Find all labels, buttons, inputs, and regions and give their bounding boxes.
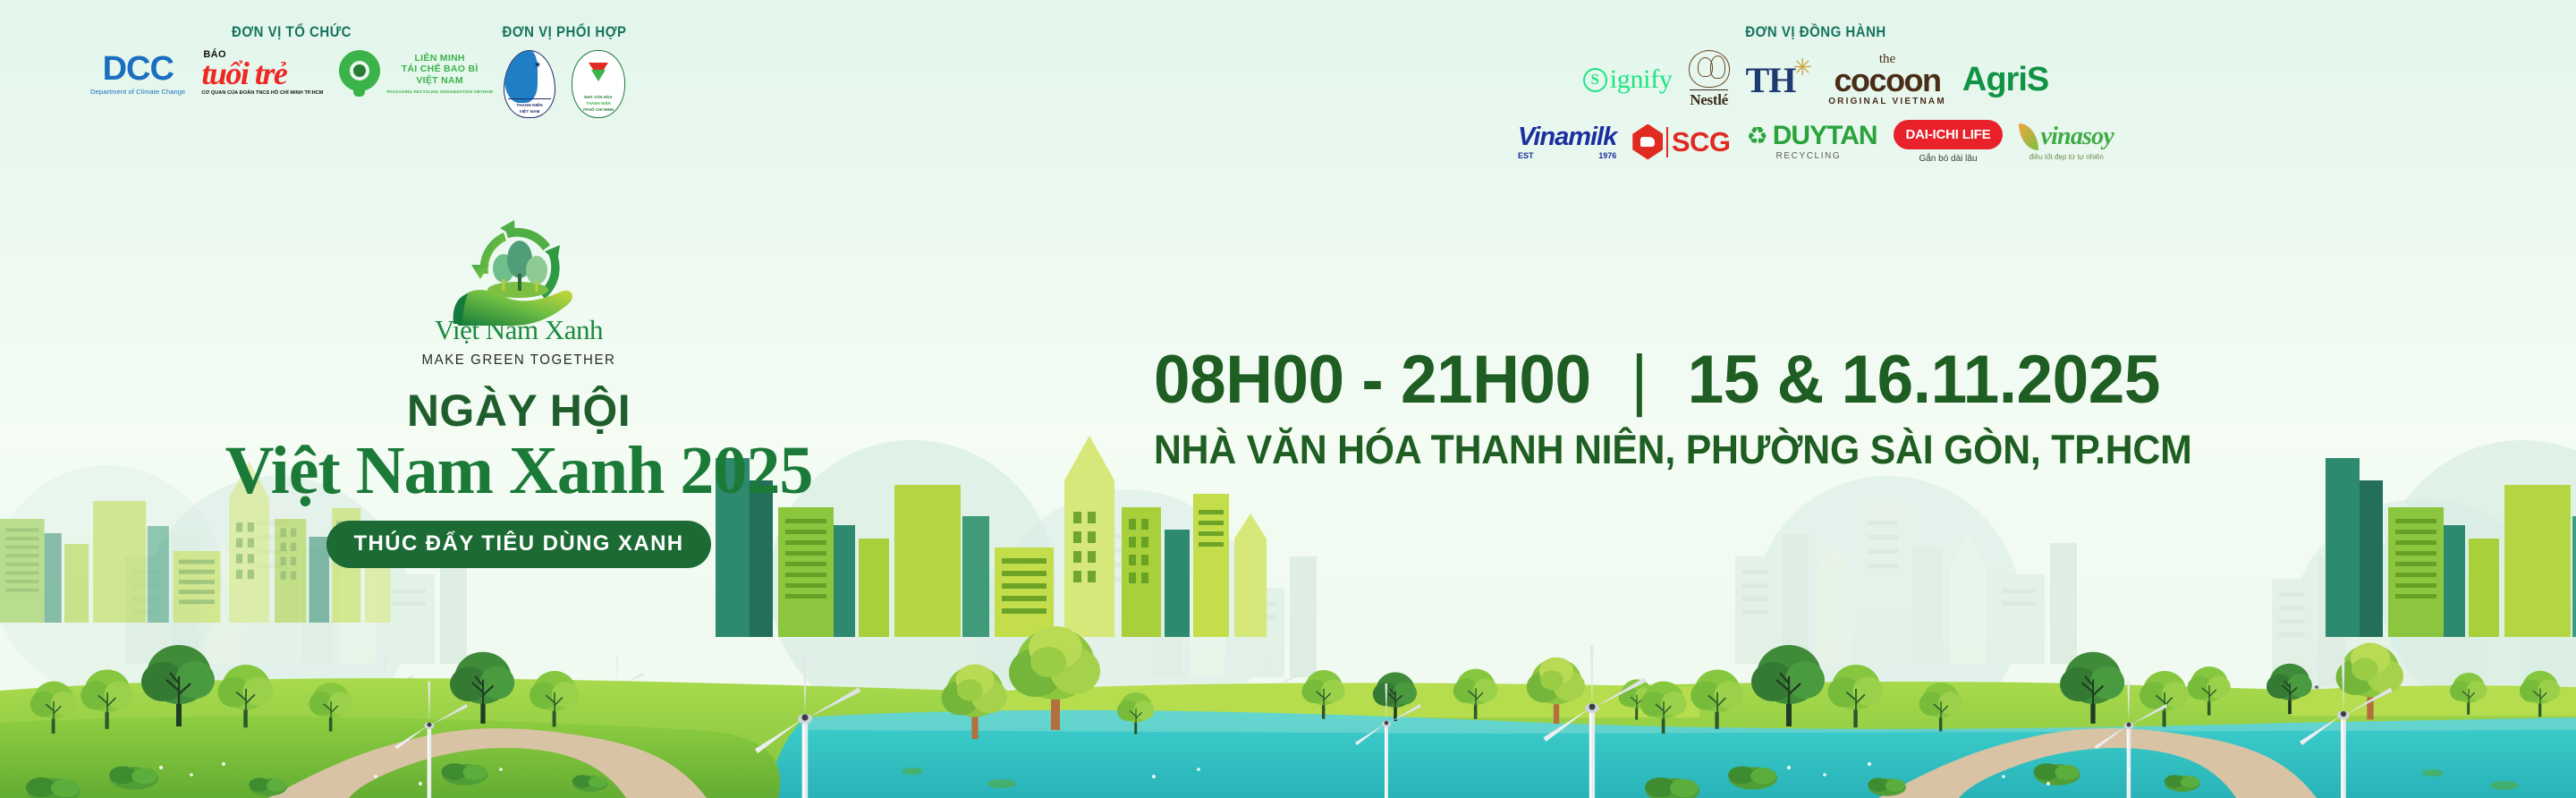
scg-wordmark: SCG (1672, 126, 1731, 158)
tuoi-tre-wordmark: tuổi trẻ (201, 57, 286, 89)
brand-tagline: MAKE GREEN TOGETHER (189, 352, 848, 369)
tuoi-tre-subtitle: CƠ QUAN CỦA ĐOÀN TNCS HỒ CHÍ MINH TP.HCM (201, 91, 323, 97)
sponsor-group-partner: ĐƠN VỊ ĐỒNG HÀNH S ignify Nestlé TH ✳ th… (1368, 23, 2263, 164)
vinamilk-year: 1976 (1598, 152, 1616, 160)
scg-elephant-icon (1632, 124, 1663, 160)
logo-thanh-nien-viet-nam[interactable]: ★ THANH NIÊN VIỆT NAM (504, 50, 555, 118)
logo-vinasoy[interactable]: vinasoy điều tốt đẹp từ tự nhiên (2019, 123, 2114, 161)
event-kicker: NGÀY HỘI (179, 388, 859, 433)
nestle-birds-nest-icon (1689, 50, 1730, 88)
duytan-subtitle: RECYCLING (1776, 152, 1842, 161)
group-label-coordinator: ĐƠN VỊ PHỐI HỢP (435, 23, 694, 41)
event-title: Việt Nam Xanh 2025 (179, 437, 859, 506)
dcc-wordmark: DCC (103, 52, 174, 86)
nvh-line-3: TP.HỒ CHÍ MINH (572, 107, 624, 112)
logo-agris[interactable]: AgriS (1962, 61, 2048, 99)
logo-signify[interactable]: S ignify (1583, 64, 1673, 95)
recycle-icon: ♻ (1747, 124, 1768, 149)
group-label-partner: ĐƠN VỊ ĐỒNG HÀNH (1422, 23, 2209, 41)
scg-divider (1666, 127, 1668, 157)
tnvn-blue-shape (504, 51, 538, 103)
logo-cocoon[interactable]: the cocoon ORIGINAL VIETNAM (1828, 53, 1946, 106)
logo-th[interactable]: TH ✳ (1746, 59, 1813, 101)
signify-s-icon: S (1583, 68, 1607, 92)
sponsor-group-coordinator: ĐƠN VỊ PHỐI HỢP ★ THANH NIÊN VIỆT NAM (417, 23, 712, 118)
th-star-icon: ✳ (1792, 54, 1812, 81)
logo-vinamilk[interactable]: Vinamilk EST 1976 (1518, 124, 1616, 160)
nvh-line-2: THANH NIÊN (572, 101, 624, 106)
star-icon: ★ (534, 61, 541, 69)
vinasoy-leaf-icon (2019, 123, 2038, 150)
coordinator-logo-row: ★ THANH NIÊN VIỆT NAM NHÀ VĂN HÓA THANH … (417, 50, 712, 118)
logo-tuoi-tre[interactable]: BÁO tuổi trẻ CƠ QUAN CỦA ĐOÀN TNCS HỒ CH… (201, 50, 323, 97)
nestle-wordmark: Nestlé (1690, 89, 1728, 109)
leaf-icon (591, 70, 606, 81)
event-dates: 15 & 16.11.2025 (1688, 342, 2160, 418)
event-info-block: 08H00 - 21H00 | 15 & 16.11.2025 NHÀ VĂN … (1154, 344, 2531, 473)
logo-scg[interactable]: SCG (1632, 124, 1730, 160)
dai-ichi-slogan: Gắn bó dài lâu (1919, 154, 1977, 164)
partner-logo-row-1: S ignify Nestlé TH ✳ the cocoon ORIGINAL… (1368, 50, 2263, 109)
logo-nha-van-hoa-thanh-nien[interactable]: NHÀ VĂN HÓA THANH NIÊN TP.HỒ CHÍ MINH (572, 50, 625, 118)
cocoon-wordmark: cocoon (1835, 64, 1941, 97)
partner-logo-row-2: Vinamilk EST 1976 SCG ♻ DUYTAN (1368, 120, 2263, 164)
logo-dai-ichi-life[interactable]: DAI-ICHI LIFE Gắn bó dài lâu (1894, 120, 2004, 164)
event-theme-badge: THÚC ĐẨY TIÊU DÙNG XANH (326, 521, 710, 568)
event-banner: ĐƠN VỊ TỔ CHỨC DCC Department of Climate… (0, 0, 2576, 798)
event-headline-block: Việt Nam Xanh MAKE GREEN TOGETHER NGÀY H… (179, 215, 859, 568)
signify-wordmark: ignify (1610, 64, 1673, 95)
pro-vietnam-recycle-icon (339, 50, 380, 97)
vinasoy-wordmark: vinasoy (2040, 123, 2114, 151)
datetime-separator: | (1631, 344, 1647, 416)
dcc-subtitle: Department of Climate Change (90, 89, 185, 96)
event-time-range: 08H00 - 21H00 (1154, 342, 1591, 418)
cocoon-subtitle: ORIGINAL VIETNAM (1828, 98, 1946, 106)
logo-duytan[interactable]: ♻ DUYTAN RECYCLING (1747, 123, 1877, 161)
logo-nestle[interactable]: Nestlé (1689, 50, 1730, 109)
vinamilk-est: EST (1518, 152, 1534, 160)
viet-nam-xanh-logo-icon (441, 215, 597, 327)
duytan-wordmark: DUYTAN (1773, 123, 1877, 149)
vinamilk-wordmark: Vinamilk (1518, 124, 1616, 150)
nvh-line-1: NHÀ VĂN HÓA (572, 95, 624, 99)
th-wordmark: TH (1746, 59, 1796, 101)
tnvn-line-1: THANH NIÊN (504, 103, 555, 107)
event-venue: NHÀ VĂN HÓA THANH NIÊN, PHƯỜNG SÀI GÒN, … (1154, 427, 2462, 473)
vinasoy-slogan: điều tốt đẹp từ tự nhiên (2029, 153, 2104, 161)
event-datetime-line: 08H00 - 21H00 | 15 & 16.11.2025 (1154, 344, 2476, 416)
tnvn-line-2: VIỆT NAM (504, 109, 555, 114)
logo-dcc[interactable]: DCC Department of Climate Change (90, 52, 185, 96)
dai-ichi-wordmark: DAI-ICHI LIFE (1894, 120, 2004, 149)
